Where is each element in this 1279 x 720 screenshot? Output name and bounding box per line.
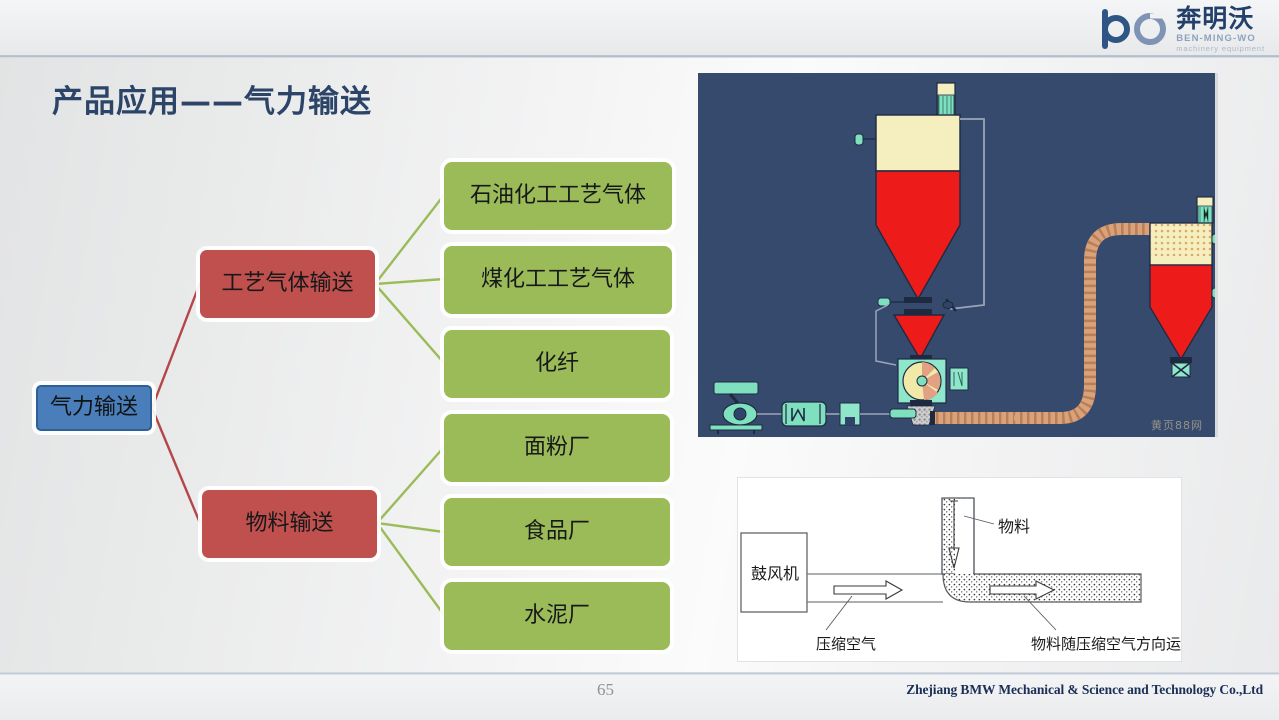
node-label: 工艺气体输送 <box>221 272 353 296</box>
conveying-system-schematic <box>698 73 1218 437</box>
node-label: 化纤 <box>535 352 579 376</box>
conveying-principle-image: 鼓风机 压缩空气 物料随压缩空气方向运动 物料 <box>737 477 1182 662</box>
node-label: 石油化工工艺气体 <box>470 184 646 208</box>
label-blower: 鼓风机 <box>751 564 799 583</box>
node-branch-process-gas-conveying[interactable]: 工艺气体输送 <box>200 250 375 318</box>
header-divider-rule <box>0 55 1279 58</box>
node-leaf-petrochemical-process-gas[interactable]: 石油化工工艺气体 <box>444 162 672 230</box>
logo-english-name: BEN-MING-WO <box>1176 34 1265 44</box>
image-watermark: 黄页88网 <box>1151 417 1203 433</box>
node-leaf-chemical-fiber[interactable]: 化纤 <box>444 330 670 398</box>
node-leaf-food-factory[interactable]: 食品厂 <box>444 498 670 566</box>
node-label: 食品厂 <box>524 520 590 544</box>
node-label: 物料输送 <box>245 512 333 536</box>
principle-line-drawing: 鼓风机 压缩空气 物料随压缩空气方向运动 物料 <box>738 478 1181 661</box>
node-label: 煤化工工艺气体 <box>481 268 635 292</box>
node-label: 水泥厂 <box>524 604 590 628</box>
node-root-pneumatic-conveying[interactable]: 气力输送 <box>36 385 152 431</box>
bo-monogram-icon <box>1099 9 1167 49</box>
header-band <box>0 0 1279 57</box>
logo-wordmark: 奔明沃 BEN-MING-WO machinery equipment <box>1176 6 1265 53</box>
logo-tagline: machinery equipment <box>1176 45 1265 53</box>
logo-chinese-name: 奔明沃 <box>1176 6 1265 31</box>
company-logo: 奔明沃 BEN-MING-WO machinery equipment <box>1099 4 1265 54</box>
node-leaf-flour-mill[interactable]: 面粉厂 <box>444 414 670 482</box>
label-material-flow: 物料随压缩空气方向运动 <box>1031 635 1181 653</box>
node-leaf-coal-chemical-process-gas[interactable]: 煤化工工艺气体 <box>444 246 672 314</box>
label-compressed-air: 压缩空气 <box>816 635 876 653</box>
label-material: 物料 <box>998 517 1030 536</box>
node-label: 面粉厂 <box>524 436 590 460</box>
pneumatic-conveying-system-image: 黄页88网 <box>698 73 1218 437</box>
node-branch-material-conveying[interactable]: 物料输送 <box>202 490 377 558</box>
node-leaf-cement-plant[interactable]: 水泥厂 <box>444 582 670 650</box>
company-footer-name: Zhejiang BMW Mechanical & Science and Te… <box>906 682 1263 698</box>
org-chart-diagram: 气力输送 工艺气体输送 物料输送 石油化工工艺气体 煤化工工艺气体 化纤 面粉厂… <box>0 60 698 670</box>
node-label: 气力输送 <box>50 396 138 420</box>
page-number: 65 <box>597 680 614 700</box>
